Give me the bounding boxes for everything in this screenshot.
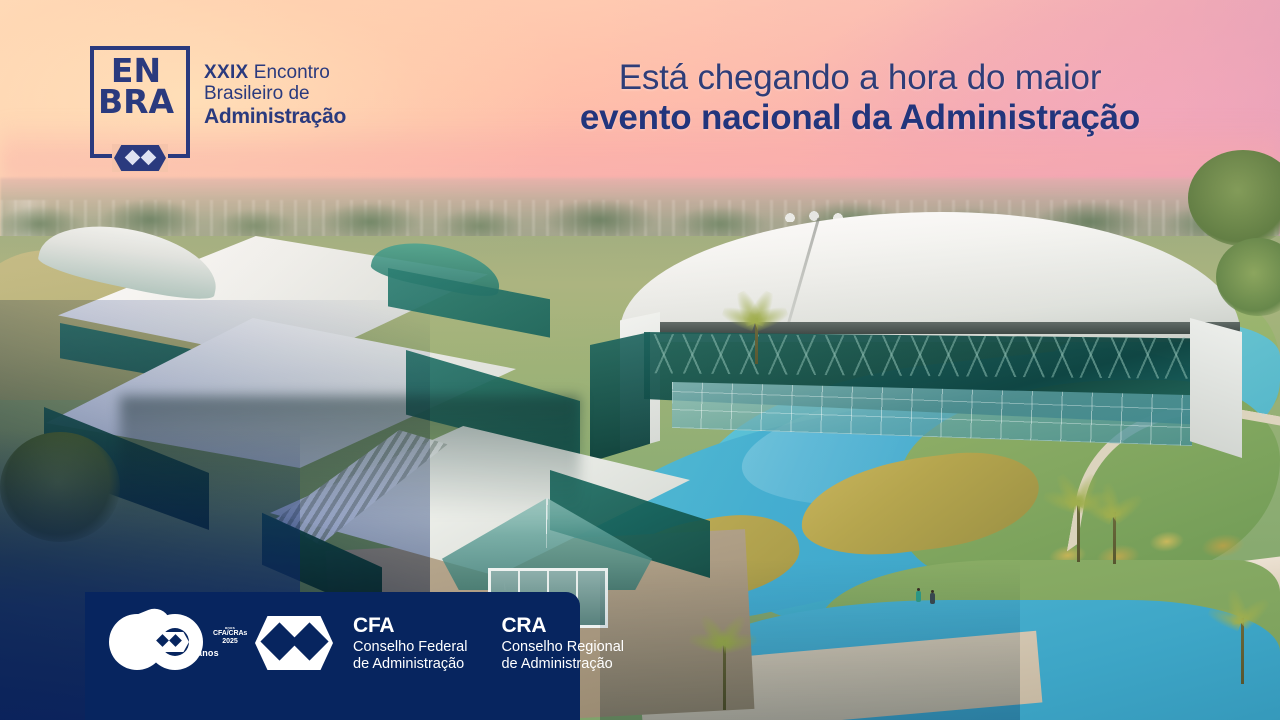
enbra-logo-letters: EN BRA bbox=[90, 55, 182, 118]
dome-pier-right bbox=[1190, 318, 1242, 458]
palm-tree bbox=[742, 318, 768, 364]
sixty-years-logo: anos anos CFA/CRAs 2025 bbox=[109, 614, 235, 672]
enbra-mark-line2: BRA bbox=[90, 86, 182, 117]
headline-line1: Está chegando a hora do maior bbox=[520, 58, 1200, 98]
enbra-promo-banner: EN BRA XXIX Encontro Brasileiro de Admin… bbox=[0, 0, 1280, 720]
headline-line2: evento nacional da Administração bbox=[520, 98, 1200, 138]
org-cra-line2: de Administração bbox=[501, 656, 624, 673]
hexagon-shape bbox=[149, 632, 189, 652]
enbra-name-line1: Encontro bbox=[254, 62, 330, 83]
stamp-line1: CFA/CRAs bbox=[213, 630, 247, 637]
org-cra: CRA Conselho Regional de Administração bbox=[501, 614, 624, 673]
enbra-logo[interactable]: EN BRA XXIX Encontro Brasileiro de Admin… bbox=[90, 46, 360, 164]
enbra-name-line2: Brasileiro de bbox=[204, 83, 360, 104]
enbra-name-line3: Administração bbox=[204, 105, 360, 129]
org-cfa: CFA Conselho Federal de Administração bbox=[353, 614, 467, 673]
palm-tree bbox=[1100, 512, 1126, 564]
org-cra-abbr: CRA bbox=[501, 614, 624, 639]
enbra-emblem-badge bbox=[112, 144, 168, 172]
stamp-line2: 2025 bbox=[213, 638, 247, 645]
sponsor-footer-panel: anos anos CFA/CRAs 2025 CFA Conselho Fed… bbox=[85, 592, 580, 720]
palm-trunk bbox=[1241, 618, 1244, 684]
enbra-ordinal: XXIX bbox=[204, 62, 249, 83]
enbra-logo-wordmark: XXIX Encontro Brasileiro de Administraçã… bbox=[204, 62, 360, 128]
org-cfa-abbr: CFA bbox=[353, 614, 467, 639]
stamp-line0: anos bbox=[213, 626, 247, 630]
enbra-name-row1: XXIX Encontro bbox=[204, 62, 360, 83]
org-cra-line1: Conselho Regional bbox=[501, 639, 624, 656]
org-cfa-line1: Conselho Federal bbox=[353, 639, 467, 656]
cfa-hexagon-diamonds-icon bbox=[255, 616, 333, 670]
teal-color-grade bbox=[600, 560, 1020, 720]
anniversary-stamp: anos CFA/CRAs 2025 bbox=[213, 626, 247, 660]
hexagon-shape bbox=[114, 145, 166, 171]
org-cfa-line2: de Administração bbox=[353, 656, 467, 673]
palm-tree bbox=[1226, 618, 1256, 684]
hexagon-diamonds-icon bbox=[149, 632, 189, 652]
hexagon-diamonds-icon bbox=[114, 145, 166, 171]
dome-curtain-mullions bbox=[672, 382, 1192, 464]
headline: Está chegando a hora do maior evento nac… bbox=[520, 58, 1200, 138]
